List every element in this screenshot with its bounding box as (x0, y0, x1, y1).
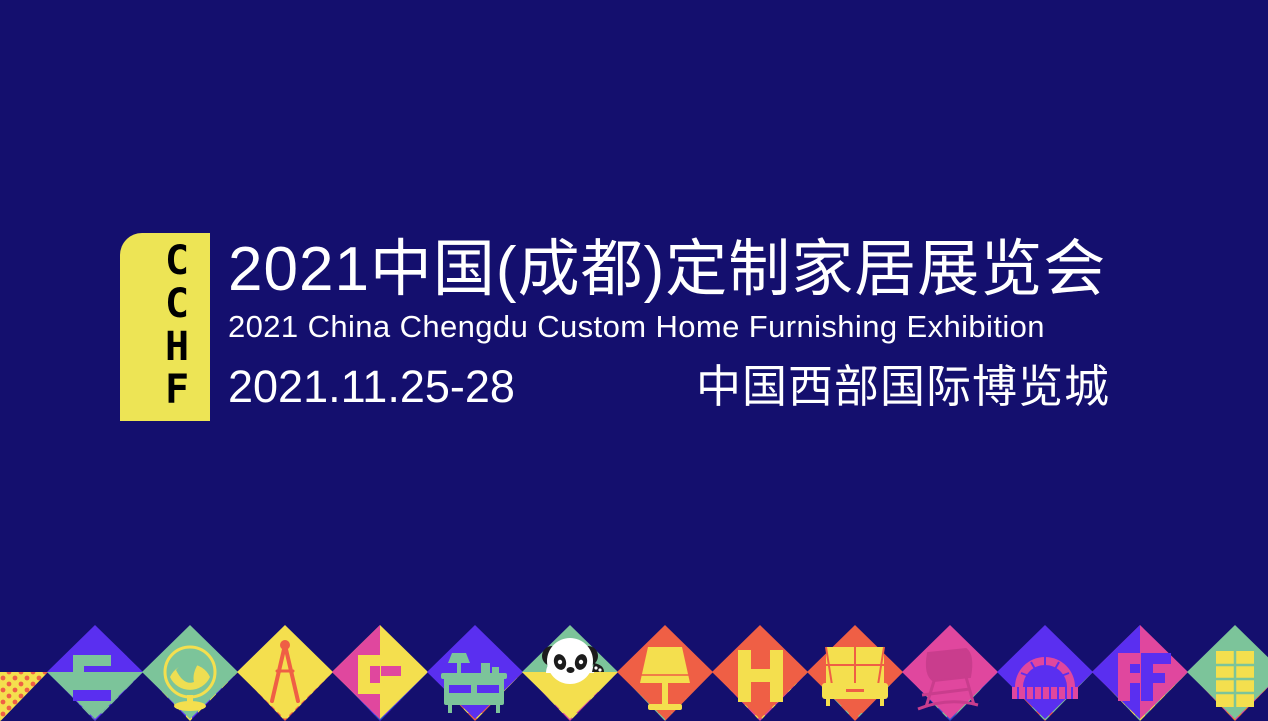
band-svg (0, 615, 1268, 721)
logo-letter-4: F (165, 372, 189, 415)
logo-letter-1: C (165, 243, 189, 286)
title-group: 2021中国(成都)定制家居展览会 2021 China Chengdu Cus… (228, 233, 1110, 413)
shelf-icon (1216, 651, 1254, 707)
exhibition-banner: C C H F 2021中国(成都)定制家居展览会 2021 China Che… (0, 0, 1268, 721)
event-date: 2021.11.25-28 (228, 361, 696, 413)
page-subtitle: 2021 China Chengdu Custom Home Furnishin… (228, 307, 1110, 347)
cchf-logo-block: C C H F (120, 233, 210, 421)
logo-letter-2: C (165, 286, 189, 329)
event-venue: 中国西部国际博览城 (696, 361, 1110, 413)
decorative-band (0, 615, 1268, 721)
masthead: C C H F 2021中国(成都)定制家居展览会 2021 China Che… (120, 233, 1110, 421)
event-info-line: 2021.11.25-28 中国西部国际博览城 (228, 361, 1110, 413)
cchf-logo-letters: C C H F (156, 243, 198, 415)
logo-letter-3: H (165, 329, 189, 372)
page-title: 2021中国(成都)定制家居展览会 (228, 233, 1110, 307)
sofa-icon (822, 647, 888, 706)
